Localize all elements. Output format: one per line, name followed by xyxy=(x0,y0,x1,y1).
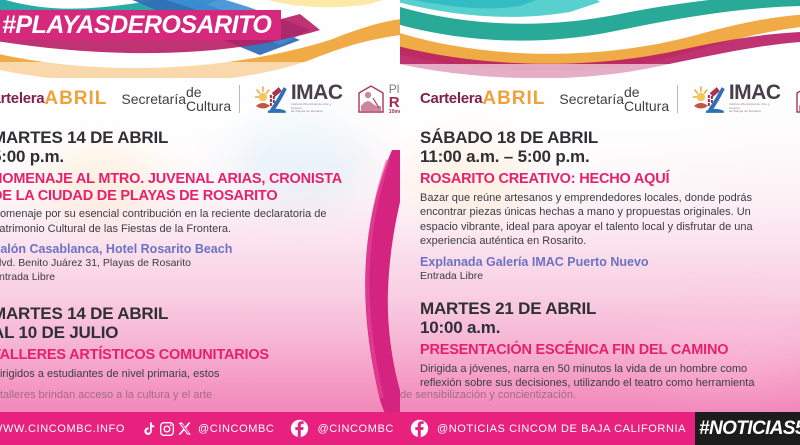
event-time: AL 10 DE JULIO xyxy=(0,323,344,342)
event-list-right: SÁBADO 18 DE ABRIL 11:00 a.m. – 5:00 p.m… xyxy=(400,128,800,405)
event-description: Dirigida a jóvenes, narra en 50 minutos … xyxy=(420,362,786,391)
poster-screenshot: #PLAYASDEROSARITO Cartelera ABRIL Secret… xyxy=(0,0,800,445)
event-date: MARTES 14 DE ABRIL xyxy=(0,128,344,147)
hashtag-banner-text: #PLAYASDEROSARITO xyxy=(2,13,271,38)
event-card: MARTES 14 DE ABRIL AL 10 DE JULIO TALLER… xyxy=(0,304,344,381)
event-title: TALLERES ARTÍSTICOS COMUNITARIOS xyxy=(0,347,344,364)
logo-strip-right: Cartelera ABRIL Secretaría de Cultura xyxy=(400,76,800,122)
event-description: Bazar que reúne artesanos y emprendedore… xyxy=(420,191,786,249)
footer-bar: WWW.CINCOMBC.INFO @CINCOMBC @CINCOMBC xyxy=(0,412,800,445)
logo-strip-left: Cartelera ABRIL Secretaría de Cultura xyxy=(0,76,382,122)
poster-panel-right: Cartelera ABRIL Secretaría de Cultura xyxy=(400,0,800,420)
playas-rosarito-text: Playas de Rosarito 10mo Ayuntamiento xyxy=(389,83,400,115)
imac-text: IMAC Instituto Municipal de Arte y Cultu… xyxy=(291,84,343,114)
noticias-badge-text: #NOTICIAS5 xyxy=(699,418,800,440)
facebook-icon[interactable] xyxy=(410,419,429,438)
cartelera-abril-logo: Cartelera ABRIL xyxy=(420,90,545,108)
noticias-badge: #NOTICIAS5 xyxy=(695,412,800,445)
event-description: Homenaje por su esencial contribución en… xyxy=(0,207,344,236)
facebook-handle-1[interactable]: @CINCOMBC xyxy=(317,423,393,435)
imac-emblem-icon xyxy=(254,84,288,114)
event-title: HOMENAJE AL MTRO. JUVENAL ARIAS, CRONIST… xyxy=(0,171,344,204)
tiktok-icon[interactable] xyxy=(141,421,157,437)
imac-emblem-icon xyxy=(692,84,726,114)
event-title: ROSARITO CREATIVO: HECHO AQUÍ xyxy=(420,171,786,188)
event-card: SÁBADO 18 DE ABRIL 11:00 a.m. – 5:00 p.m… xyxy=(420,128,786,283)
facebook-handle-group-1: @CINCOMBC xyxy=(290,419,393,438)
imac-logo: IMAC Instituto Municipal de Arte y Cultu… xyxy=(692,84,781,114)
event-card: MARTES 21 DE ABRIL 10:00 a.m. PRESENTACI… xyxy=(420,299,786,391)
ribbon-artwork-right xyxy=(400,0,800,78)
imac-acronym: IMAC xyxy=(291,84,343,103)
abril-label: ABRIL xyxy=(482,90,545,108)
event-time: 10:00 a.m. xyxy=(420,318,786,337)
event-fee: Entrada Libre xyxy=(420,270,786,284)
event-title: PRESENTACIÓN ESCÉNICA FIN DEL CAMINO xyxy=(420,342,786,359)
imac-acronym: IMAC xyxy=(729,84,781,103)
event-fee: Entrada Libre xyxy=(0,271,344,285)
social-handles-group: @CINCOMBC xyxy=(141,421,274,437)
facebook-icon[interactable] xyxy=(290,419,309,438)
secretaria-line-1: Secretaría xyxy=(559,92,624,106)
event-date: SÁBADO 18 DE ABRIL xyxy=(420,128,786,147)
event-venue: Explanada Galería IMAC Puerto Nuevo xyxy=(420,255,786,270)
playas-line-3: 10mo Ayuntamiento xyxy=(389,110,400,115)
playas-line-2: Rosarito xyxy=(389,95,400,110)
secretaria-de-cultura-logo: Secretaría de Cultura xyxy=(559,85,678,114)
abril-label: ABRIL xyxy=(44,90,107,108)
event-date: MARTES 14 DE ABRIL xyxy=(0,304,344,323)
poster-panel-left: #PLAYASDEROSARITO Cartelera ABRIL Secret… xyxy=(0,0,400,420)
imac-text: IMAC Instituto Municipal de Arte y Cultu… xyxy=(729,84,781,114)
event-date: MARTES 21 DE ABRIL xyxy=(420,299,786,318)
instagram-icon[interactable] xyxy=(159,421,175,437)
secretaria-line-2: de Cultura xyxy=(186,85,231,114)
event-card: MARTES 14 DE ABRIL 5:00 p.m. HOMENAJE AL… xyxy=(0,128,344,284)
secretaria-line-2: de Cultura xyxy=(624,85,669,114)
secretaria-line-1: Secretaría xyxy=(121,92,186,106)
facebook-handle-2[interactable]: @NOTICIAS CINCOM DE BAJA CALIFORNIA xyxy=(437,423,686,435)
secretaria-de-cultura-logo: Secretaría de Cultura xyxy=(121,85,240,114)
event-list-left: MARTES 14 DE ABRIL 5:00 p.m. HOMENAJE AL… xyxy=(0,128,392,396)
playas-rosarito-emblem-icon xyxy=(795,84,800,114)
imac-subtitle-2: de Playas de Rosarito xyxy=(729,110,781,114)
event-time: 11:00 a.m. – 5:00 p.m. xyxy=(420,147,786,166)
hashtag-banner: #PLAYASDEROSARITO xyxy=(0,10,281,40)
cartelera-label: Cartelera xyxy=(0,92,44,106)
playas-de-rosarito-logo: Playas de Rosarito 10mo Ayuntamiento xyxy=(357,83,400,115)
social-handle-main[interactable]: @CINCOMBC xyxy=(198,423,274,435)
event-description: Dirigidos a estudiantes de nivel primari… xyxy=(0,367,344,382)
playas-de-rosarito-logo: Playas de Rosarito 10mo Ayuntamiento xyxy=(795,83,800,115)
event-address: Blvd. Benito Juárez 31, Playas de Rosari… xyxy=(0,257,344,271)
cartelera-abril-logo: Cartelera ABRIL xyxy=(0,90,107,108)
imac-subtitle-2: de Playas de Rosarito xyxy=(291,110,343,114)
playas-rosarito-emblem-icon xyxy=(357,84,385,114)
x-twitter-icon[interactable] xyxy=(177,421,193,437)
facebook-handle-group-2: @NOTICIAS CINCOM DE BAJA CALIFORNIA xyxy=(410,419,686,438)
event-time: 5:00 p.m. xyxy=(0,147,344,166)
cartelera-label: Cartelera xyxy=(420,92,482,106)
website-url[interactable]: WWW.CINCOMBC.INFO xyxy=(0,423,125,435)
event-venue: Salón Casablanca, Hotel Rosarito Beach xyxy=(0,242,344,257)
imac-logo: IMAC Instituto Municipal de Arte y Cultu… xyxy=(254,84,343,114)
